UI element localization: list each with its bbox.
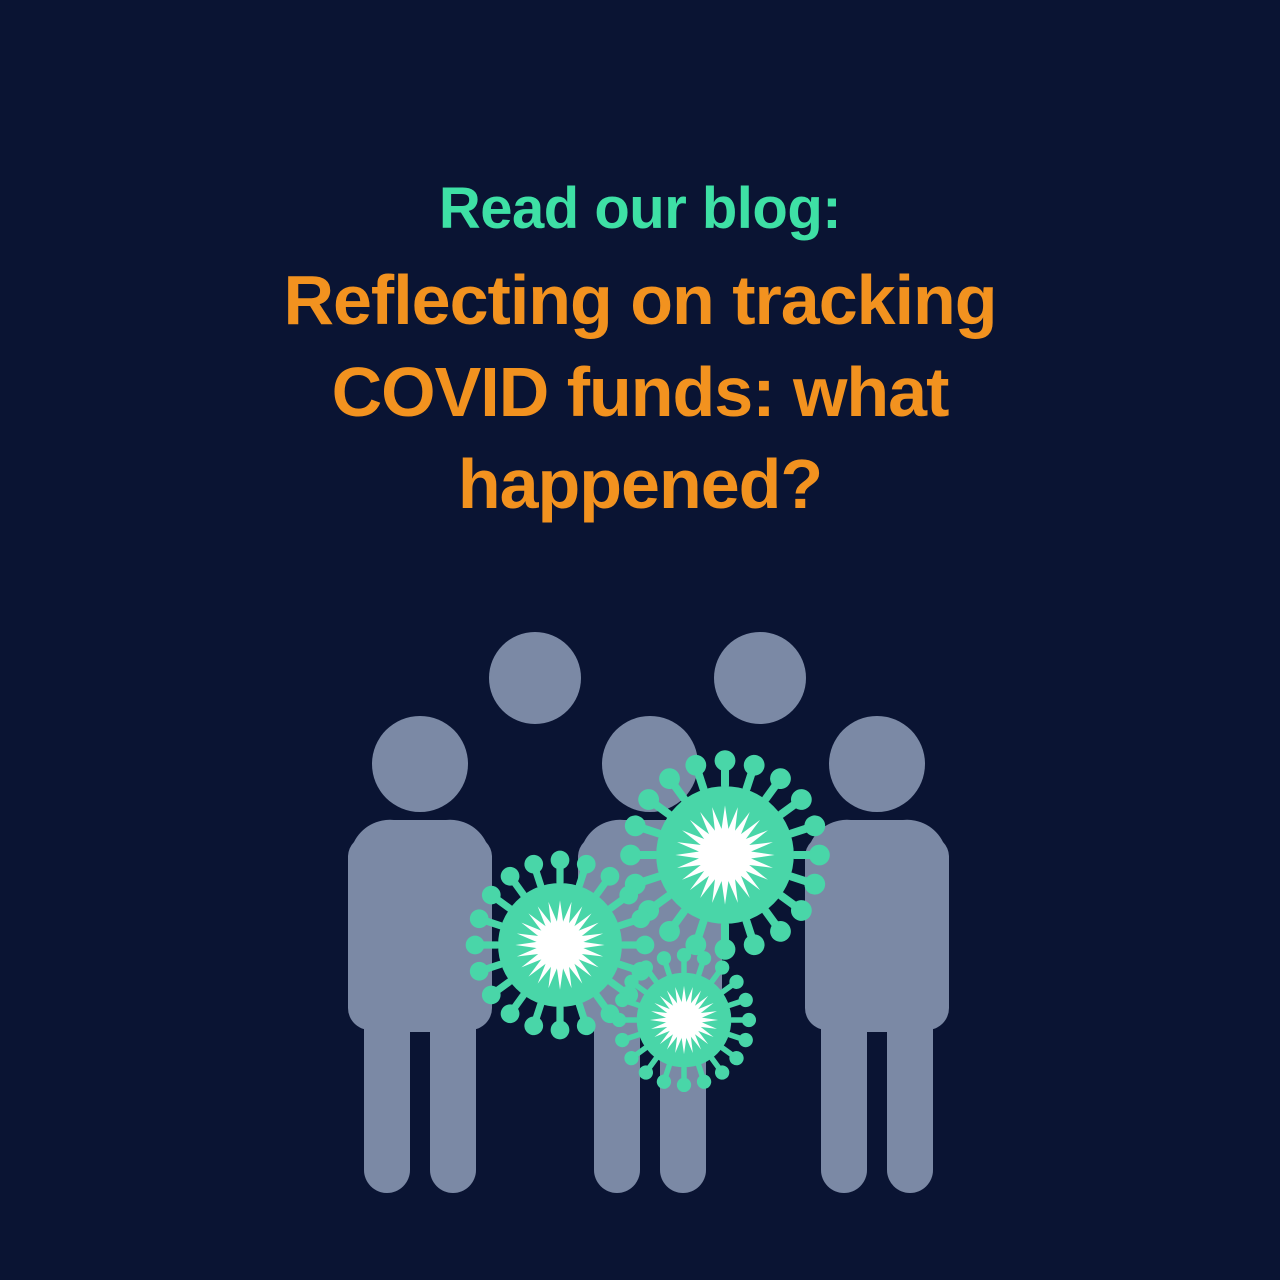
person-front-right	[805, 716, 949, 1193]
person-back-right	[714, 632, 806, 724]
blog-promo-card: Read our blog: Reflecting on tracking CO…	[0, 0, 1280, 1280]
person-back-left	[489, 632, 581, 724]
eyebrow-label: Read our blog:	[0, 170, 1280, 248]
person-front-left	[348, 716, 492, 1193]
avatar-head	[489, 632, 581, 724]
page-title: Reflecting on tracking COVID funds: what…	[220, 254, 1060, 530]
avatar-head	[714, 632, 806, 724]
text-block: Read our blog: Reflecting on tracking CO…	[0, 170, 1280, 530]
crowd-with-virus-illustration: .core { fill: #ffffff; }	[310, 630, 970, 1230]
